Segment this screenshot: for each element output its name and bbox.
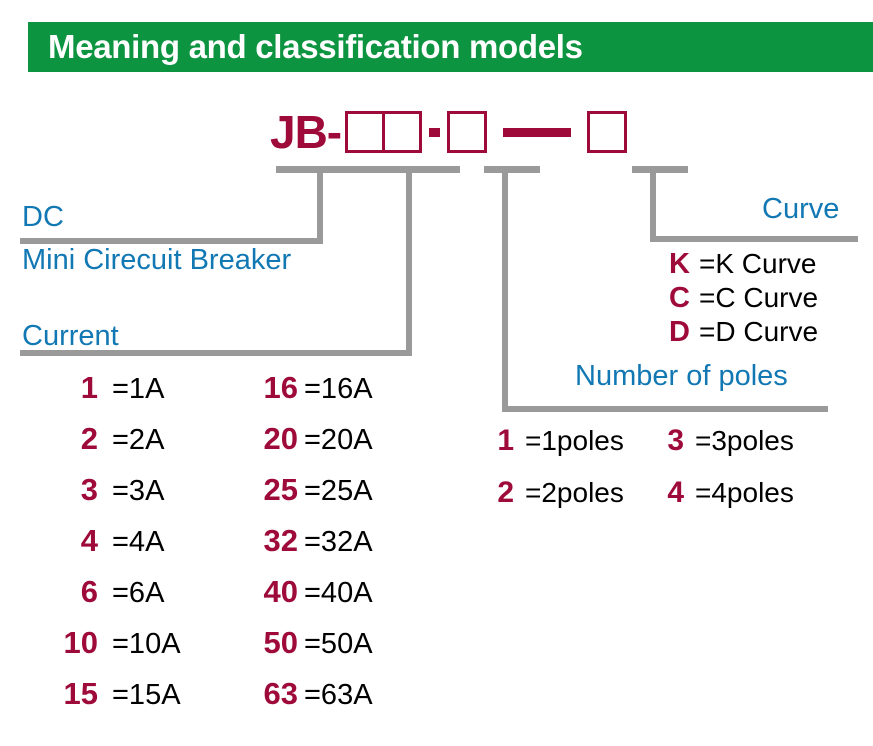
legend-row: 15=15A xyxy=(46,676,181,727)
legend-row: 63=63A xyxy=(246,676,373,727)
legend-value: =50A xyxy=(298,628,373,661)
legend-code: 32 xyxy=(246,523,298,559)
legend-value: =20A xyxy=(298,424,373,457)
legend-row: 2=2poles xyxy=(494,476,624,528)
legend-code: 6 xyxy=(46,574,98,610)
legend-row: 16=16A xyxy=(246,370,373,421)
legend-value: =2poles xyxy=(514,477,624,509)
legend-value: =16A xyxy=(298,373,373,406)
legend-code: 2 xyxy=(46,421,98,457)
legend-code: 3 xyxy=(664,424,684,458)
legend-code: 1 xyxy=(494,424,514,458)
legend-value: =1poles xyxy=(514,425,624,457)
legend-code: 25 xyxy=(246,472,298,508)
legend-row: 20=20A xyxy=(246,421,373,472)
legend-row: 4=4A xyxy=(46,523,181,574)
legend-code: 3 xyxy=(46,472,98,508)
current-legend-column-left: 1=1A2=2A3=3A4=4A6=6A10=10A15=15A xyxy=(46,370,181,727)
legend-value: =3poles xyxy=(684,425,794,457)
leader-tick-dc xyxy=(276,166,372,173)
legend-row: 40=40A xyxy=(246,574,373,625)
legend-row: 6=6A xyxy=(46,574,181,625)
poles-legend-column-right: 3=3poles4=4poles xyxy=(664,424,794,528)
legend-value: =6A xyxy=(98,577,164,610)
legend-value: =D Curve xyxy=(690,316,818,348)
leader-path-dc xyxy=(20,170,320,241)
label-current: Current xyxy=(22,322,119,351)
legend-value: =63A xyxy=(298,679,373,712)
legend-code: 40 xyxy=(246,574,298,610)
legend-row: K=K Curve xyxy=(664,248,818,282)
legend-value: =32A xyxy=(298,526,373,559)
poles-legend-column-left: 1=1poles2=2poles xyxy=(494,424,624,528)
legend-code: 4 xyxy=(46,523,98,559)
legend-row: D=D Curve xyxy=(664,316,818,350)
legend-row: C=C Curve xyxy=(664,282,818,316)
legend-code: 16 xyxy=(246,370,298,406)
leader-tick-curve xyxy=(632,166,688,173)
legend-row: 1=1A xyxy=(46,370,181,421)
legend-value: =25A xyxy=(298,475,373,508)
legend-value: =15A xyxy=(98,679,181,712)
legend-row: 2=2A xyxy=(46,421,181,472)
legend-code: D xyxy=(664,316,690,349)
legend-code: K xyxy=(664,248,690,281)
legend-code: 15 xyxy=(46,676,98,712)
legend-value: =4A xyxy=(98,526,164,559)
legend-row: 25=25A xyxy=(246,472,373,523)
legend-row: 4=4poles xyxy=(664,476,794,528)
legend-value: =40A xyxy=(298,577,373,610)
legend-row: 32=32A xyxy=(246,523,373,574)
label-curve: Curve xyxy=(762,195,839,224)
legend-value: =3A xyxy=(98,475,164,508)
legend-value: =2A xyxy=(98,424,164,457)
legend-code: 20 xyxy=(246,421,298,457)
curve-legend: K=K CurveC=C CurveD=D Curve xyxy=(664,248,818,350)
legend-code: 10 xyxy=(46,625,98,661)
legend-code: 4 xyxy=(664,476,684,510)
legend-code: 63 xyxy=(246,676,298,712)
legend-row: 3=3A xyxy=(46,472,181,523)
legend-code: 50 xyxy=(246,625,298,661)
classification-diagram: Meaning and classification models JB- xyxy=(0,0,873,746)
legend-value: =4poles xyxy=(684,477,794,509)
legend-row: 3=3poles xyxy=(664,424,794,476)
label-dc: DC xyxy=(22,203,64,232)
legend-value: =C Curve xyxy=(690,282,818,314)
current-legend-column-right: 16=16A20=20A25=25A32=32A40=40A50=50A63=6… xyxy=(246,370,373,727)
leader-tick-poles xyxy=(484,166,540,173)
legend-row: 10=10A xyxy=(46,625,181,676)
label-mini-circuit-breaker: Mini Cirecuit Breaker xyxy=(22,246,291,275)
label-number-of-poles: Number of poles xyxy=(575,362,788,391)
legend-code: C xyxy=(664,282,690,315)
legend-row: 1=1poles xyxy=(494,424,624,476)
legend-value: =K Curve xyxy=(690,248,817,280)
legend-row: 50=50A xyxy=(246,625,373,676)
legend-value: =10A xyxy=(98,628,181,661)
legend-code: 2 xyxy=(494,476,514,510)
legend-code: 1 xyxy=(46,370,98,406)
legend-value: =1A xyxy=(98,373,164,406)
